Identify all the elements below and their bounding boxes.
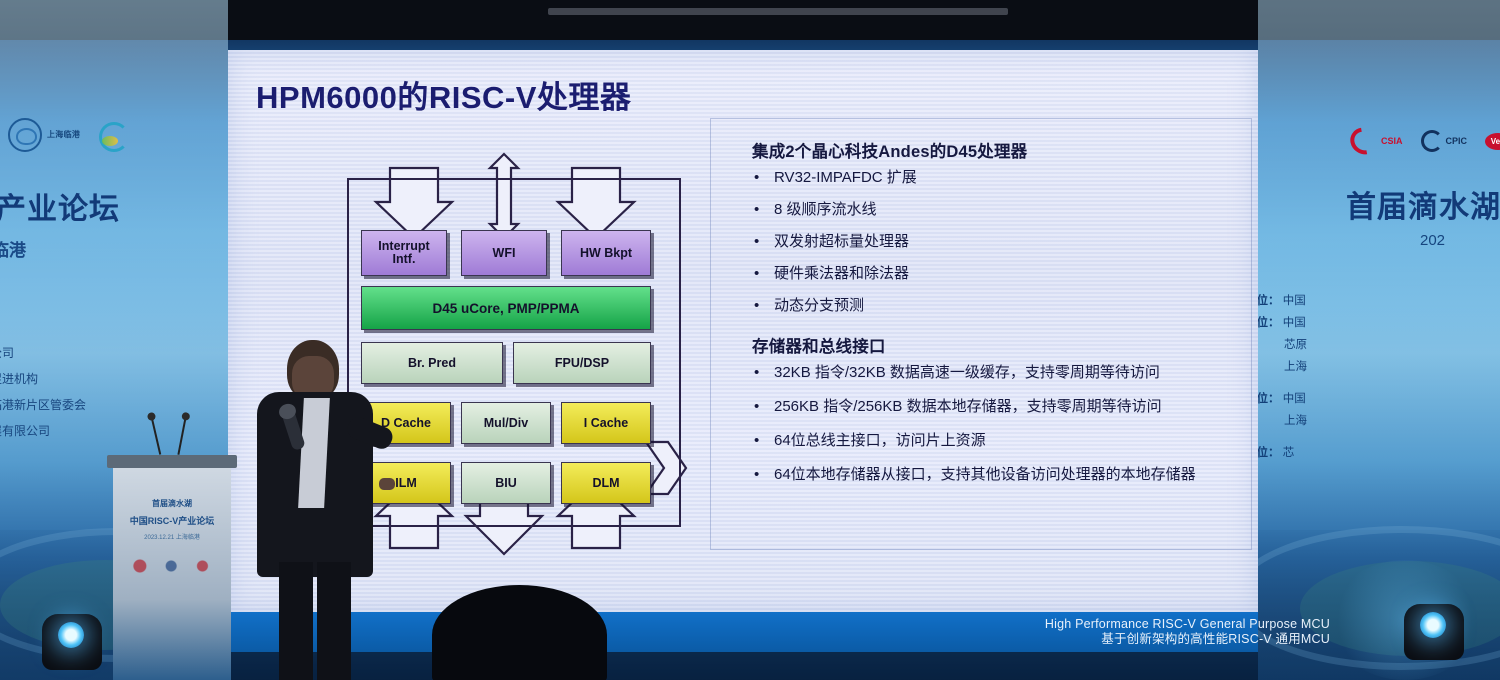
bullet-item: •32KB 指令/32KB 数据高速一级缓存，支持零周期等待访问 (754, 363, 1272, 382)
block-fpu-dsp: FPU/DSP (513, 342, 651, 384)
csia-logo: CSIA (1350, 128, 1403, 154)
bullet-dot: • (754, 168, 762, 187)
bullet-dot: • (754, 264, 762, 283)
lingang-ring-icon (8, 118, 42, 152)
bullet-dot: • (754, 397, 762, 416)
stage-light-right (1398, 586, 1470, 662)
left-panel-line: 临港新片区管委会 (0, 392, 86, 418)
bullet-item: •64位本地存储器从接口，支持其他设备访问处理器的本地存储器 (754, 465, 1272, 484)
verisilicon-pill-icon: Veri (1485, 133, 1500, 150)
slide-section-processor: 集成2个晶心科技Andes的D45处理器 •RV32-IMPAFDC 扩展 •8… (752, 138, 1272, 315)
cpic-label: CPIC (1446, 136, 1468, 146)
right-panel-title: 首届滴水湖 (1346, 182, 1500, 226)
bullet-item: •动态分支预测 (754, 296, 1272, 315)
cpic-logo: CPIC (1421, 130, 1468, 152)
podium-line3: 2023.12.21 上海临港 (113, 532, 231, 541)
bullet-dot: • (754, 465, 762, 484)
left-panel-org-lines: ） 公司 促进机构 临港新片区管委会 展有限公司 (0, 314, 86, 444)
csia-label: CSIA (1381, 136, 1403, 146)
bullet-dot: • (754, 232, 762, 251)
stage-light-left (36, 596, 108, 672)
podium-top (107, 455, 237, 468)
block-d45-ucore: D45 uCore, PMP/PPMA (361, 286, 651, 330)
audience-head-silhouette (432, 585, 607, 680)
left-panel-logos: 上海临港 (8, 118, 128, 152)
section-heading: 集成2个晶心科技Andes的D45处理器 (752, 138, 1272, 162)
block-mul-div: Mul/Div (461, 402, 551, 444)
presenter-right-leg (317, 562, 351, 680)
stage-light-lens-icon (58, 622, 84, 648)
bullet-dot: • (754, 296, 762, 315)
right-panel-date: 202 (1420, 232, 1445, 249)
presenter-left-leg (279, 562, 313, 680)
bullet-item: •8 级顺序流水线 (754, 200, 1272, 219)
lingang-logo-text: 上海临港 (47, 131, 80, 139)
left-panel-line: 展有限公司 (0, 418, 86, 444)
bullet-item: •硬件乘法器和除法器 (754, 264, 1272, 283)
slide-title: HPM6000的RISC-V处理器 (256, 72, 631, 117)
csia-swoosh-icon (1345, 122, 1383, 159)
footer-line-en: High Performance RISC-V General Purpose … (985, 617, 1330, 632)
stage-light-lens-icon (1420, 612, 1446, 638)
podium-sponsor-logos (127, 554, 219, 584)
podium: 首届滴水湖 中国RISC-V产业论坛 2023.12.21 上海临港 (113, 455, 231, 680)
forum-sun-logo (94, 120, 128, 150)
podium-front-panel: 首届滴水湖 中国RISC-V产业论坛 2023.12.21 上海临港 (113, 468, 231, 680)
left-panel-line: ） (0, 314, 86, 340)
bullet-item: •256KB 指令/256KB 数据本地存储器，支持零周期等待访问 (754, 397, 1272, 416)
left-panel-line: 公司 (0, 340, 86, 366)
section-heading: 存储器和总线接口 (752, 333, 1272, 357)
slide-footer-text: High Performance RISC-V General Purpose … (985, 617, 1330, 647)
sun-icon (94, 120, 128, 150)
bullet-item: •RV32-IMPAFDC 扩展 (754, 168, 1272, 187)
bullet-dot: • (754, 363, 762, 382)
right-panel-badges: CSIA CPIC Veri VeriSilicon (1350, 128, 1500, 154)
slide-text-column: 集成2个晶心科技Andes的D45处理器 •RV32-IMPAFDC 扩展 •8… (752, 138, 1272, 499)
podium-line1: 首届滴水湖 (113, 498, 231, 509)
presenter-speaker (243, 330, 383, 680)
footer-line-zh: 基于创新架构的高性能RISC-V 通用MCU (985, 632, 1330, 647)
bullet-dot: • (754, 200, 762, 219)
podium-line2: 中国RISC-V产业论坛 (113, 514, 231, 527)
slide-section-memory: 存储器和总线接口 •32KB 指令/32KB 数据高速一级缓存，支持零周期等待访… (752, 333, 1272, 484)
bullet-dot: • (754, 431, 762, 450)
left-panel-line: 促进机构 (0, 366, 86, 392)
risc-v-core-block-diagram: InterruptIntf. WFI HW Bkpt D45 uCore, PM… (347, 178, 681, 527)
verisilicon-logo: Veri VeriSilicon (1485, 133, 1500, 150)
podium-microphones (137, 417, 217, 459)
bullet-item: •64位总线主接口，访问片上资源 (754, 431, 1272, 450)
block-dlm: DLM (561, 462, 651, 504)
presenter-hand-with-clicker (379, 478, 395, 490)
block-biu: BIU (461, 462, 551, 504)
block-i-cache: I Cache (561, 402, 651, 444)
bullet-item: •双发射超标量处理器 (754, 232, 1272, 251)
cpic-ring-icon (1421, 130, 1443, 152)
left-panel-subtitle: 临港 (0, 236, 26, 261)
block-interrupt-intf: InterruptIntf. (361, 230, 447, 276)
block-hw-bkpt: HW Bkpt (561, 230, 651, 276)
left-panel-title: -V产业论坛 (0, 184, 120, 228)
lingang-logo: 上海临港 (8, 118, 80, 152)
presentation-photo: 上海临港 -V产业论坛 临港 ） 公司 促进机构 临港新片区管委会 展有限公司 … (0, 0, 1500, 680)
block-wfi: WFI (461, 230, 547, 276)
